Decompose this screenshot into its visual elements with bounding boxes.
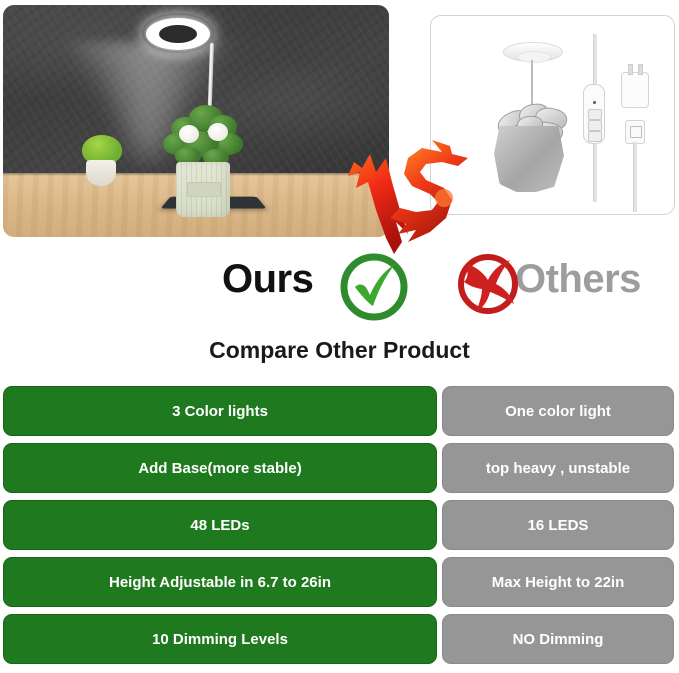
lamp-hanging-rod: [531, 60, 533, 108]
hero-comparison-images: [0, 0, 679, 248]
table-row: 10 Dimming Levels NO Dimming: [0, 614, 679, 664]
controller-button: [588, 109, 602, 120]
ours-product-photo: [3, 5, 389, 237]
plant-pot-small: [86, 160, 116, 186]
page-title: Compare Other Product: [0, 337, 679, 364]
others-cell: top heavy , unstable: [442, 443, 674, 493]
ours-cell: 10 Dimming Levels: [3, 614, 437, 664]
plug-prong: [628, 64, 633, 75]
x-circle-icon: [456, 252, 520, 316]
ours-label: Ours: [222, 257, 313, 302]
ours-cell: Height Adjustable in 6.7 to 26in: [3, 557, 437, 607]
hanging-disc-lamp-icon: [503, 42, 563, 62]
plant-flower: [208, 123, 228, 141]
wall-plug-adapter: [621, 72, 649, 108]
vs-badge-icon: [346, 138, 474, 258]
plant-pot-large: [176, 162, 230, 217]
others-label: Others: [515, 257, 641, 302]
table-row: Add Base(more stable) top heavy , unstab…: [0, 443, 679, 493]
others-cell: One color light: [442, 386, 674, 436]
plant-flower: [179, 125, 199, 143]
usb-cable: [633, 142, 637, 212]
others-cell: Max Height to 22in: [442, 557, 674, 607]
geometric-pot: [494, 126, 564, 192]
inline-controller: [583, 84, 605, 144]
comparison-table: 3 Color lights One color light Add Base(…: [0, 386, 679, 671]
ours-cell: 48 LEDs: [3, 500, 437, 550]
usb-connector: [625, 120, 645, 144]
ring-lamp-icon: [142, 13, 214, 53]
controller-button: [588, 120, 602, 131]
table-row: 48 LEDs 16 LEDS: [0, 500, 679, 550]
controller-button: [588, 131, 602, 142]
table-row: 3 Color lights One color light: [0, 386, 679, 436]
ours-cell: 3 Color lights: [3, 386, 437, 436]
check-circle-icon: [339, 251, 409, 321]
others-cell: 16 LEDS: [442, 500, 674, 550]
plug-prong: [638, 64, 643, 75]
pot-label: [187, 182, 221, 197]
ours-cell: Add Base(more stable): [3, 443, 437, 493]
others-cell: NO Dimming: [442, 614, 674, 664]
controller-indicator-dot: [593, 101, 596, 104]
table-row: Height Adjustable in 6.7 to 26in Max Hei…: [0, 557, 679, 607]
